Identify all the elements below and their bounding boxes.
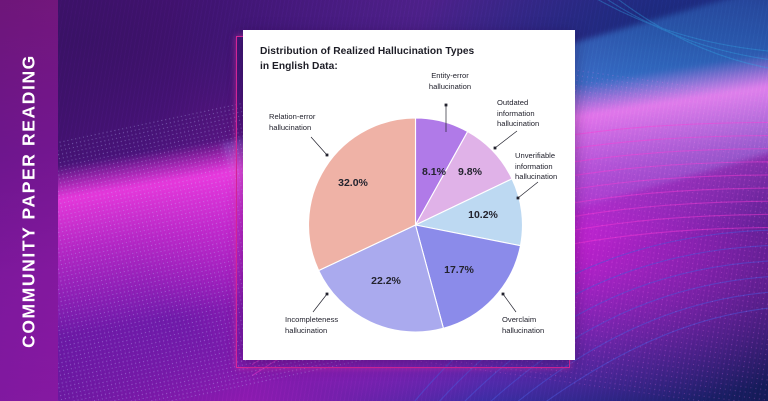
callout-label-line: hallucination [285, 326, 338, 337]
callout-anchor-dot [326, 154, 329, 157]
callout-leader-line [518, 182, 538, 198]
pie-slice-callout-label: Entity-errorhallucination [429, 71, 471, 92]
callout-anchor-dot [326, 293, 329, 296]
callout-label-line: hallucination [429, 82, 471, 93]
callout-leader-line [503, 294, 516, 312]
callout-label-line: Overclaim [502, 315, 544, 326]
callout-label-line: Outdated [497, 98, 539, 109]
callout-label-line: Entity-error [429, 71, 471, 82]
screenshot-root: COMMUNITY PAPER READING Distribution of … [0, 0, 768, 401]
banner-label: COMMUNITY PAPER READING [19, 54, 40, 348]
pie-slice-percentage: 10.2% [468, 209, 498, 221]
callout-label-line: hallucination [497, 119, 539, 130]
callout-anchor-dot [494, 147, 497, 150]
pie-slice-percentage: 9.8% [458, 166, 482, 178]
callout-label-line: hallucination [269, 123, 315, 134]
callout-label-line: information [515, 162, 557, 173]
pie-slice-callout-label: Outdatedinformationhallucination [497, 98, 539, 130]
pie-slice-percentage: 22.2% [371, 275, 401, 287]
pie-slice-percentage: 8.1% [422, 166, 446, 178]
callout-leader-line [311, 137, 327, 155]
pie-slice-callout-label: Relation-errorhallucination [269, 112, 315, 133]
pie-slice-callout-label: Incompletenesshallucination [285, 315, 338, 336]
callout-leader-line [495, 131, 517, 148]
pie-slice-callout-label: Overclaimhallucination [502, 315, 544, 336]
callout-leader-line [313, 294, 327, 312]
callout-label-line: information [497, 109, 539, 120]
callout-anchor-dot [517, 197, 520, 200]
pie-slice-callout-label: Unverifiableinformationhallucination [515, 151, 557, 183]
callout-label-line: hallucination [515, 172, 557, 183]
callout-label-line: Relation-error [269, 112, 315, 123]
callout-label-line: Incompleteness [285, 315, 338, 326]
callout-label-line: hallucination [502, 326, 544, 337]
pie-slice-percentage: 17.7% [444, 264, 474, 276]
callout-anchor-dot [502, 293, 505, 296]
callout-label-line: Unverifiable [515, 151, 557, 162]
pie-slice-percentage: 32.0% [338, 177, 368, 189]
pie-chart [0, 0, 768, 401]
callout-anchor-dot [445, 104, 448, 107]
